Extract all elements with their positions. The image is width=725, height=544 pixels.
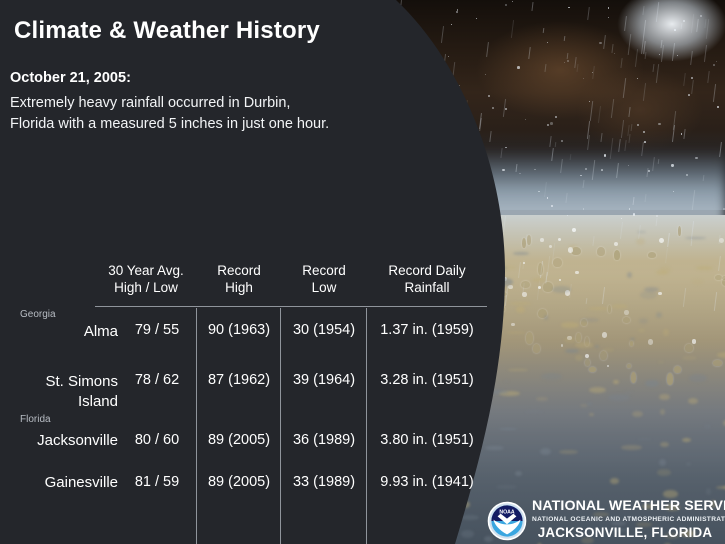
column-header-record-low: Record Low [282, 262, 366, 296]
cell-jacksonville-record-low: 36 (1989) [282, 432, 366, 448]
cell-alma-avg: 79 / 55 [118, 322, 196, 338]
column-header-record-rainfall-line1: Record Daily [367, 262, 487, 279]
cell-gainesville-record-low: 33 (1989) [282, 474, 366, 490]
column-header-record-rainfall-line2: Rainfall [367, 279, 487, 296]
city-name-jacksonville: Jacksonville [18, 431, 118, 451]
column-header-record-low-line2: Low [282, 279, 366, 296]
column-divider-2 [280, 308, 281, 544]
column-header-record-high-line2: High [198, 279, 280, 296]
cell-jacksonville-record-high: 89 (2005) [198, 432, 280, 448]
city-name-gainesville: Gainesville [18, 473, 118, 493]
state-label-florida: Florida [20, 414, 51, 425]
city-name-st-simons-island-line2: Island [18, 392, 118, 412]
cell-gainesville-avg: 81 / 59 [118, 474, 196, 490]
city-name-alma: Alma [18, 322, 118, 342]
cell-alma-record-low: 30 (1954) [282, 322, 366, 338]
event-description-line1: Extremely heavy rainfall occurred in Dur… [10, 93, 329, 114]
cell-gainesville-record-high: 89 (2005) [198, 474, 280, 490]
column-header-record-high: Record High [198, 262, 280, 296]
column-header-avg-line2: High / Low [96, 279, 196, 296]
event-description-line2: Florida with a measured 5 inches in just… [10, 114, 329, 135]
infographic-canvas: Climate & Weather History October 21, 20… [0, 0, 725, 544]
column-header-record-rainfall: Record Daily Rainfall [367, 262, 487, 296]
noaa-administration-name: NATIONAL OCEANIC AND ATMOSPHERIC ADMINIS… [532, 515, 724, 525]
column-divider-1 [196, 308, 197, 544]
cell-st-simons-island-avg: 78 / 62 [118, 372, 196, 388]
column-header-avg: 30 Year Avg. High / Low [96, 262, 196, 296]
cell-alma-record-rainfall: 1.37 in. (1959) [367, 322, 487, 338]
cell-gainesville-record-rainfall: 9.93 in. (1941) [367, 474, 487, 490]
nws-text-block: NATIONAL WEATHER SERVICE NATIONAL OCEANI… [532, 498, 724, 541]
column-header-record-high-line1: Record [198, 262, 280, 279]
column-header-avg-line1: 30 Year Avg. [96, 262, 196, 279]
nws-branding: NOAA NATIONAL WEATHER SERVICE NATIONAL O… [487, 498, 725, 544]
column-divider-3 [366, 308, 367, 544]
nws-agency-name: NATIONAL WEATHER SERVICE [532, 498, 724, 515]
cell-alma-record-high: 90 (1963) [198, 322, 280, 338]
nws-office-location: JACKSONVILLE, FLORIDA [532, 525, 718, 541]
event-date: October 21, 2005: [10, 70, 131, 86]
noaa-seal-icon: NOAA [487, 501, 527, 541]
table-header-rule [95, 306, 487, 307]
cell-st-simons-island-record-rainfall: 3.28 in. (1951) [367, 372, 487, 388]
city-name-st-simons-island-line1: St. Simons [18, 372, 118, 392]
column-header-record-low-line1: Record [282, 262, 366, 279]
city-name-st-simons-island: St. Simons Island [18, 372, 118, 412]
cell-jacksonville-avg: 80 / 60 [118, 432, 196, 448]
cell-jacksonville-record-rainfall: 3.80 in. (1951) [367, 432, 487, 448]
state-label-georgia: Georgia [20, 309, 56, 320]
noaa-seal-text: NOAA [499, 509, 515, 515]
event-description: Extremely heavy rainfall occurred in Dur… [10, 93, 329, 135]
cell-st-simons-island-record-high: 87 (1962) [198, 372, 280, 388]
cell-st-simons-island-record-low: 39 (1964) [282, 372, 366, 388]
page-title: Climate & Weather History [14, 17, 320, 45]
